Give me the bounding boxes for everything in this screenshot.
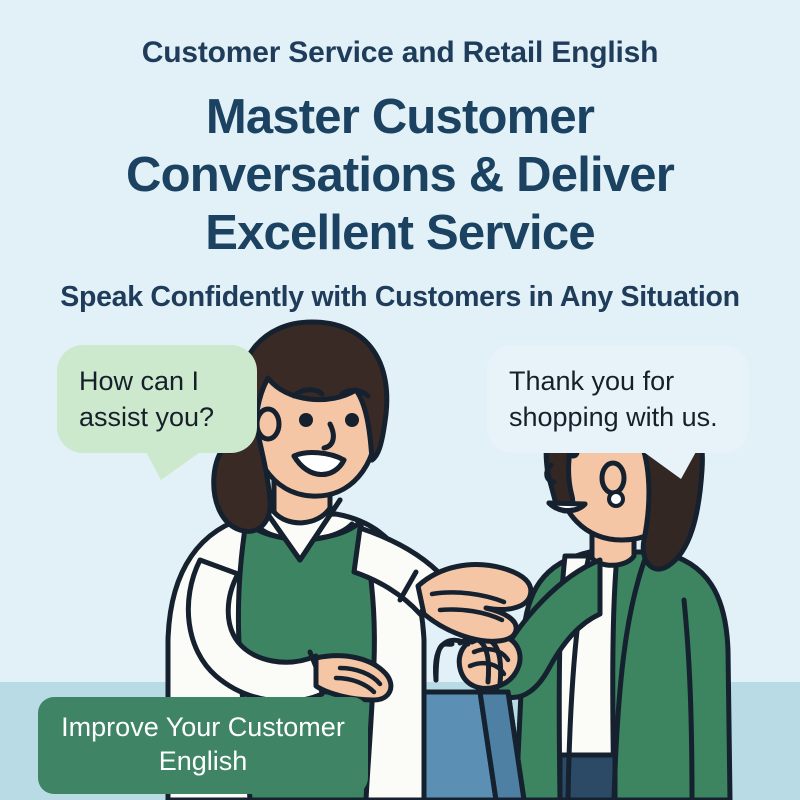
eyebrow-heading: Customer Service and Retail English: [0, 36, 800, 70]
speech-bubble-customer-line-2: shopping with us.: [509, 399, 727, 435]
speech-bubble-staff: How can I assist you?: [57, 345, 257, 453]
speech-bubble-staff-line-2: assist you?: [79, 399, 235, 435]
poster-canvas: Customer Service and Retail English Mast…: [0, 0, 800, 800]
speech-bubble-customer: Thank you for shopping with us.: [487, 345, 749, 453]
page-title: Master Customer Conversations & Deliver …: [40, 88, 760, 262]
subtitle: Speak Confidently with Customers in Any …: [20, 281, 780, 314]
headline-line-1: Master Customer: [40, 88, 760, 146]
cta-line-1: Improve Your Customer: [60, 710, 346, 744]
speech-bubble-staff-tail: [145, 450, 203, 480]
speech-bubble-customer-line-1: Thank you for: [509, 363, 727, 399]
headline-line-3: Excellent Service: [40, 204, 760, 262]
cta-button[interactable]: Improve Your Customer English: [38, 697, 368, 794]
speech-bubble-staff-line-1: How can I: [79, 363, 235, 399]
headline-line-2: Conversations & Deliver: [40, 146, 760, 204]
speech-bubble-customer-tail: [641, 450, 697, 479]
cta-line-2: English: [60, 744, 346, 778]
